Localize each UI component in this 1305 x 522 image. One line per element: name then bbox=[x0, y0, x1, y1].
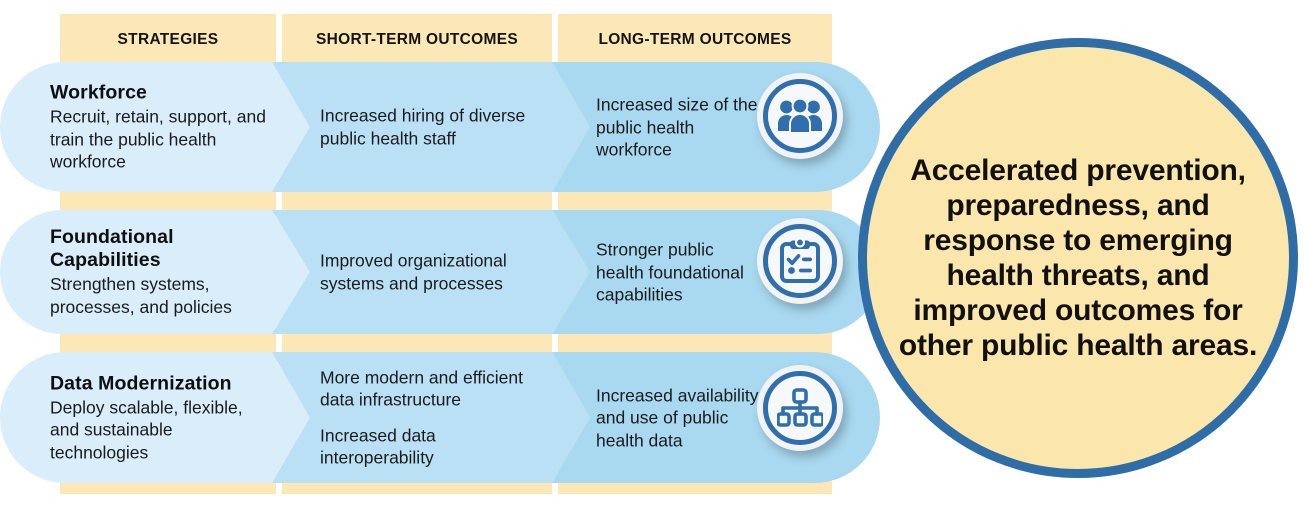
long-term-outcome: Increased size of the public health work… bbox=[596, 93, 760, 161]
strategy-text-block: Data Modernization Deploy scalable, flex… bbox=[50, 372, 270, 464]
strategy-description: Recruit, retain, support, and train the … bbox=[50, 105, 270, 173]
column-header-strategies: STRATEGIES bbox=[60, 27, 276, 53]
short-term-outcome-primary: More modern and efficient data infrastru… bbox=[320, 366, 544, 411]
long-term-outcome: Stronger public health foundational capa… bbox=[596, 238, 760, 306]
strategy-title: Data Modernization bbox=[50, 372, 270, 395]
pathway-row-data-modernization: Data Modernization Deploy scalable, flex… bbox=[0, 352, 880, 483]
short-term-cell-foundational-capabilities: Improved organizational systems and proc… bbox=[272, 210, 590, 334]
short-term-outcome: Increased hiring of diverse public healt… bbox=[320, 105, 544, 150]
overall-outcome-circle: Accelerated prevention, preparedness, an… bbox=[858, 38, 1298, 478]
short-term-text-block: More modern and efficient data infrastru… bbox=[320, 366, 544, 469]
strategy-description: Deploy scalable, flexible, and sustainab… bbox=[50, 396, 270, 464]
short-term-outcome-secondary: Increased data interoperability bbox=[320, 424, 544, 469]
column-header-short-term: SHORT-TERM OUTCOMES bbox=[282, 27, 552, 53]
data-hierarchy-icon bbox=[763, 371, 837, 445]
strategy-cell-workforce: Workforce Recruit, retain, support, and … bbox=[0, 62, 310, 192]
short-term-text-block: Increased hiring of diverse public healt… bbox=[320, 105, 544, 150]
strategy-text-block: Workforce Recruit, retain, support, and … bbox=[50, 81, 270, 173]
badge-data-modernization bbox=[757, 365, 843, 451]
people-group-icon bbox=[763, 79, 837, 153]
pathway-row-workforce: Workforce Recruit, retain, support, and … bbox=[0, 62, 880, 192]
long-term-outcome: Increased availability and use of public… bbox=[596, 384, 760, 452]
strategy-cell-foundational-capabilities: Foundational Capabilities Strengthen sys… bbox=[0, 210, 310, 334]
strategy-title: Workforce bbox=[50, 81, 270, 104]
long-term-text-block: Stronger public health foundational capa… bbox=[596, 238, 760, 306]
badge-foundational-capabilities bbox=[757, 218, 843, 304]
short-term-outcome: Improved organizational systems and proc… bbox=[320, 250, 544, 295]
column-header-long-term: LONG-TERM OUTCOMES bbox=[558, 27, 832, 53]
strategy-text-block: Foundational Capabilities Strengthen sys… bbox=[50, 226, 270, 318]
pathway-row-foundational-capabilities: Foundational Capabilities Strengthen sys… bbox=[0, 210, 880, 334]
strategy-cell-data-modernization: Data Modernization Deploy scalable, flex… bbox=[0, 352, 310, 483]
badge-workforce bbox=[757, 73, 843, 159]
short-term-text-block: Improved organizational systems and proc… bbox=[320, 250, 544, 295]
short-term-cell-data-modernization: More modern and efficient data infrastru… bbox=[272, 352, 590, 483]
overall-outcome-text: Accelerated prevention, preparedness, an… bbox=[892, 153, 1264, 363]
long-term-text-block: Increased availability and use of public… bbox=[596, 384, 760, 452]
strategy-description: Strengthen systems, processes, and polic… bbox=[50, 273, 270, 318]
clipboard-checklist-icon bbox=[763, 224, 837, 298]
short-term-cell-workforce: Increased hiring of diverse public healt… bbox=[272, 62, 590, 192]
strategy-title: Foundational Capabilities bbox=[50, 226, 270, 272]
long-term-text-block: Increased size of the public health work… bbox=[596, 93, 760, 161]
